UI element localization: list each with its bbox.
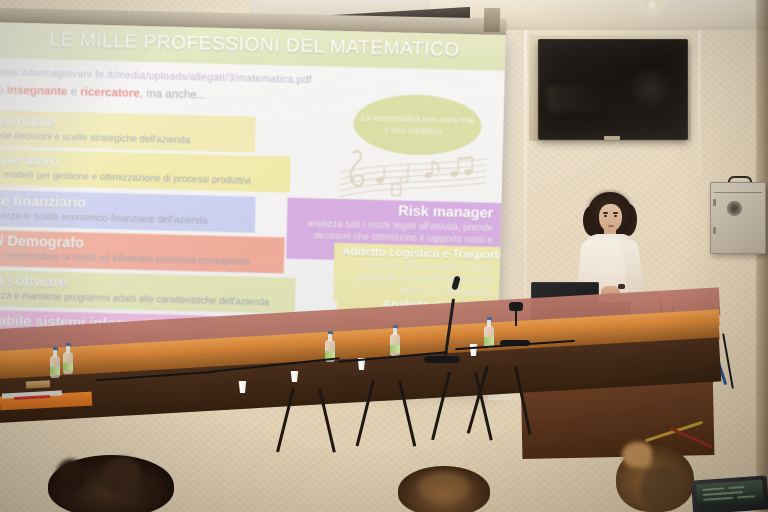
screen-line <box>737 495 755 498</box>
slide-subtitle-suffix: , ma anche... <box>140 88 207 102</box>
bottle-neck <box>66 346 70 353</box>
bottle-neck <box>393 328 397 335</box>
water-bottle <box>390 334 400 356</box>
bottle-label <box>63 363 73 371</box>
slide-subtitle: olo insegnante e ricercatore, ma anche..… <box>0 84 368 106</box>
audience-member-center <box>398 466 490 512</box>
tv-reflection <box>627 66 675 110</box>
laptop <box>691 475 768 512</box>
screen-line <box>728 486 744 489</box>
bottle-neck <box>487 320 491 327</box>
music-staff-icon <box>338 143 489 207</box>
screen-line <box>703 487 725 491</box>
wall-right-edge <box>756 0 768 512</box>
slide-row-statistico-demografo: ico / Demografo ati per comprendere la r… <box>0 229 285 273</box>
laptop-screen <box>696 480 764 509</box>
slide-row-finanziario-consulente: lente finanziario e ottimizza le scelte … <box>0 189 256 232</box>
audience-hair-highlight <box>418 472 470 502</box>
bottle-label <box>484 337 494 345</box>
wall-mounted-tv <box>538 39 688 140</box>
speech-bubble-text: La matematica non sarà mai il mio mestie… <box>357 111 478 138</box>
microphone-base <box>424 356 460 363</box>
bottle-neck <box>328 334 332 341</box>
audience-hair <box>102 457 142 495</box>
water-bottle <box>63 352 73 374</box>
slide-subtitle-mid: e <box>67 86 80 98</box>
presenter-eye <box>614 215 617 217</box>
audience-member-left <box>48 455 174 512</box>
audience-member-right <box>612 438 698 512</box>
audience-hair <box>622 442 652 468</box>
audience-hair <box>640 466 684 510</box>
lock-icon <box>727 201 742 216</box>
audience-hair <box>56 459 86 493</box>
tv-logo-bar <box>604 136 620 140</box>
webcam <box>509 302 523 311</box>
bottle-label <box>390 345 400 353</box>
tv-reflection <box>547 86 605 112</box>
cabinet-seam <box>714 192 762 193</box>
slide-subtitle-bold-ricercatore: ricercatore <box>80 86 140 100</box>
slide-row-progettista-software: tista software , realizza e mantiene pro… <box>0 269 296 313</box>
presenter-brow <box>613 212 618 214</box>
slide-row-aziendale: a aziendale prevede decisioni e scelte s… <box>0 110 256 153</box>
projector-screen-roller-cap <box>484 8 500 32</box>
bottle-label <box>50 367 60 375</box>
slide-url: //www.informagiovani.fe.it/media/uploads… <box>0 66 369 88</box>
presenter-brow <box>603 212 608 214</box>
presenter-eye <box>604 215 607 217</box>
slide-subtitle-bold-insegnante: insegnante <box>7 84 68 98</box>
bottle-neck <box>53 350 57 357</box>
slide-row-operativo: ta operativo alizza modelli per gestione… <box>0 149 291 193</box>
wooden-block <box>26 380 50 388</box>
electrical-cabinet <box>710 182 766 254</box>
screen-line <box>703 491 743 496</box>
webcam-stem <box>515 310 517 326</box>
cabinet-hinge <box>713 199 716 206</box>
lecture-room-photo: LE MILLE PROFESSIONI DEL MATEMATICO //ww… <box>0 0 768 512</box>
water-bottle <box>50 356 60 378</box>
cabinet-hinge <box>713 227 716 234</box>
presenter-mouth <box>608 225 614 227</box>
screen-line <box>703 497 733 501</box>
